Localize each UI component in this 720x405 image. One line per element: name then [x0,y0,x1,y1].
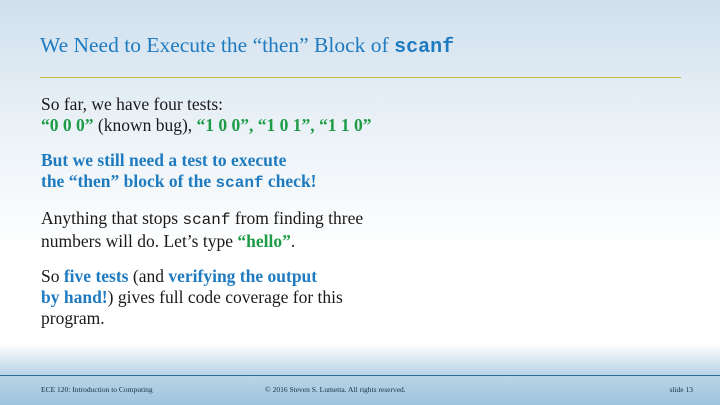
footer-copyright: © 2016 Steven S. Lumetta. All rights res… [265,385,406,394]
anything-line-2a: numbers will do. Let’s type [41,231,237,251]
five-tests-emphasis: five tests [64,266,129,286]
paragraph-need-test: But we still need a test to execute the … [41,150,681,194]
need-test-code: scanf [216,174,264,192]
anything-line-1a: Anything that stops [41,208,182,228]
title-divider [40,77,681,78]
known-bug-note: (known bug), [94,115,197,135]
test-cases-list: “1 0 0”, “1 0 1”, “1 1 0” [197,115,372,135]
slide-footer: ECE 120: Introduction to Computing © 201… [0,385,720,401]
paragraph-tests: So far, we have four tests: “0 0 0” (kno… [41,94,681,136]
paragraph-five-tests: So five tests (and verifying the output … [41,266,681,329]
five-tests-line-1a: So [41,266,64,286]
anything-code: scanf [182,211,230,229]
need-test-line-2a: the “then” block of the [41,171,216,191]
page-title: We Need to Execute the “then” Block of s… [40,33,690,59]
need-test-line-1: But we still need a test to execute [41,150,286,170]
by-hand-emphasis: by hand! [41,287,108,307]
page-title-text: We Need to Execute the “then” Block of [40,33,394,57]
paragraph-anything-stops: Anything that stops scanf from finding t… [41,208,681,252]
hello-input: “hello” [237,231,290,251]
anything-line-1b: from finding three [230,208,363,228]
slide-body: So far, we have four tests: “0 0 0” (kno… [41,94,681,343]
five-tests-line-3: program. [41,308,105,328]
anything-line-2b: . [291,231,295,251]
tests-line-1: So far, we have four tests: [41,94,223,114]
footer-slide-number: slide 13 [669,385,693,394]
five-tests-line-2b: ) gives full code coverage for this [108,287,343,307]
slide: We Need to Execute the “then” Block of s… [0,0,720,405]
page-title-code: scanf [394,36,454,59]
test-case-000: “0 0 0” [41,115,94,135]
footer-course: ECE 120: Introduction to Computing [41,385,153,394]
footer-divider [0,375,720,376]
need-test-line-2b: check! [264,171,317,191]
five-tests-line-1b: (and [129,266,169,286]
verifying-output-emphasis: verifying the output [168,266,317,286]
